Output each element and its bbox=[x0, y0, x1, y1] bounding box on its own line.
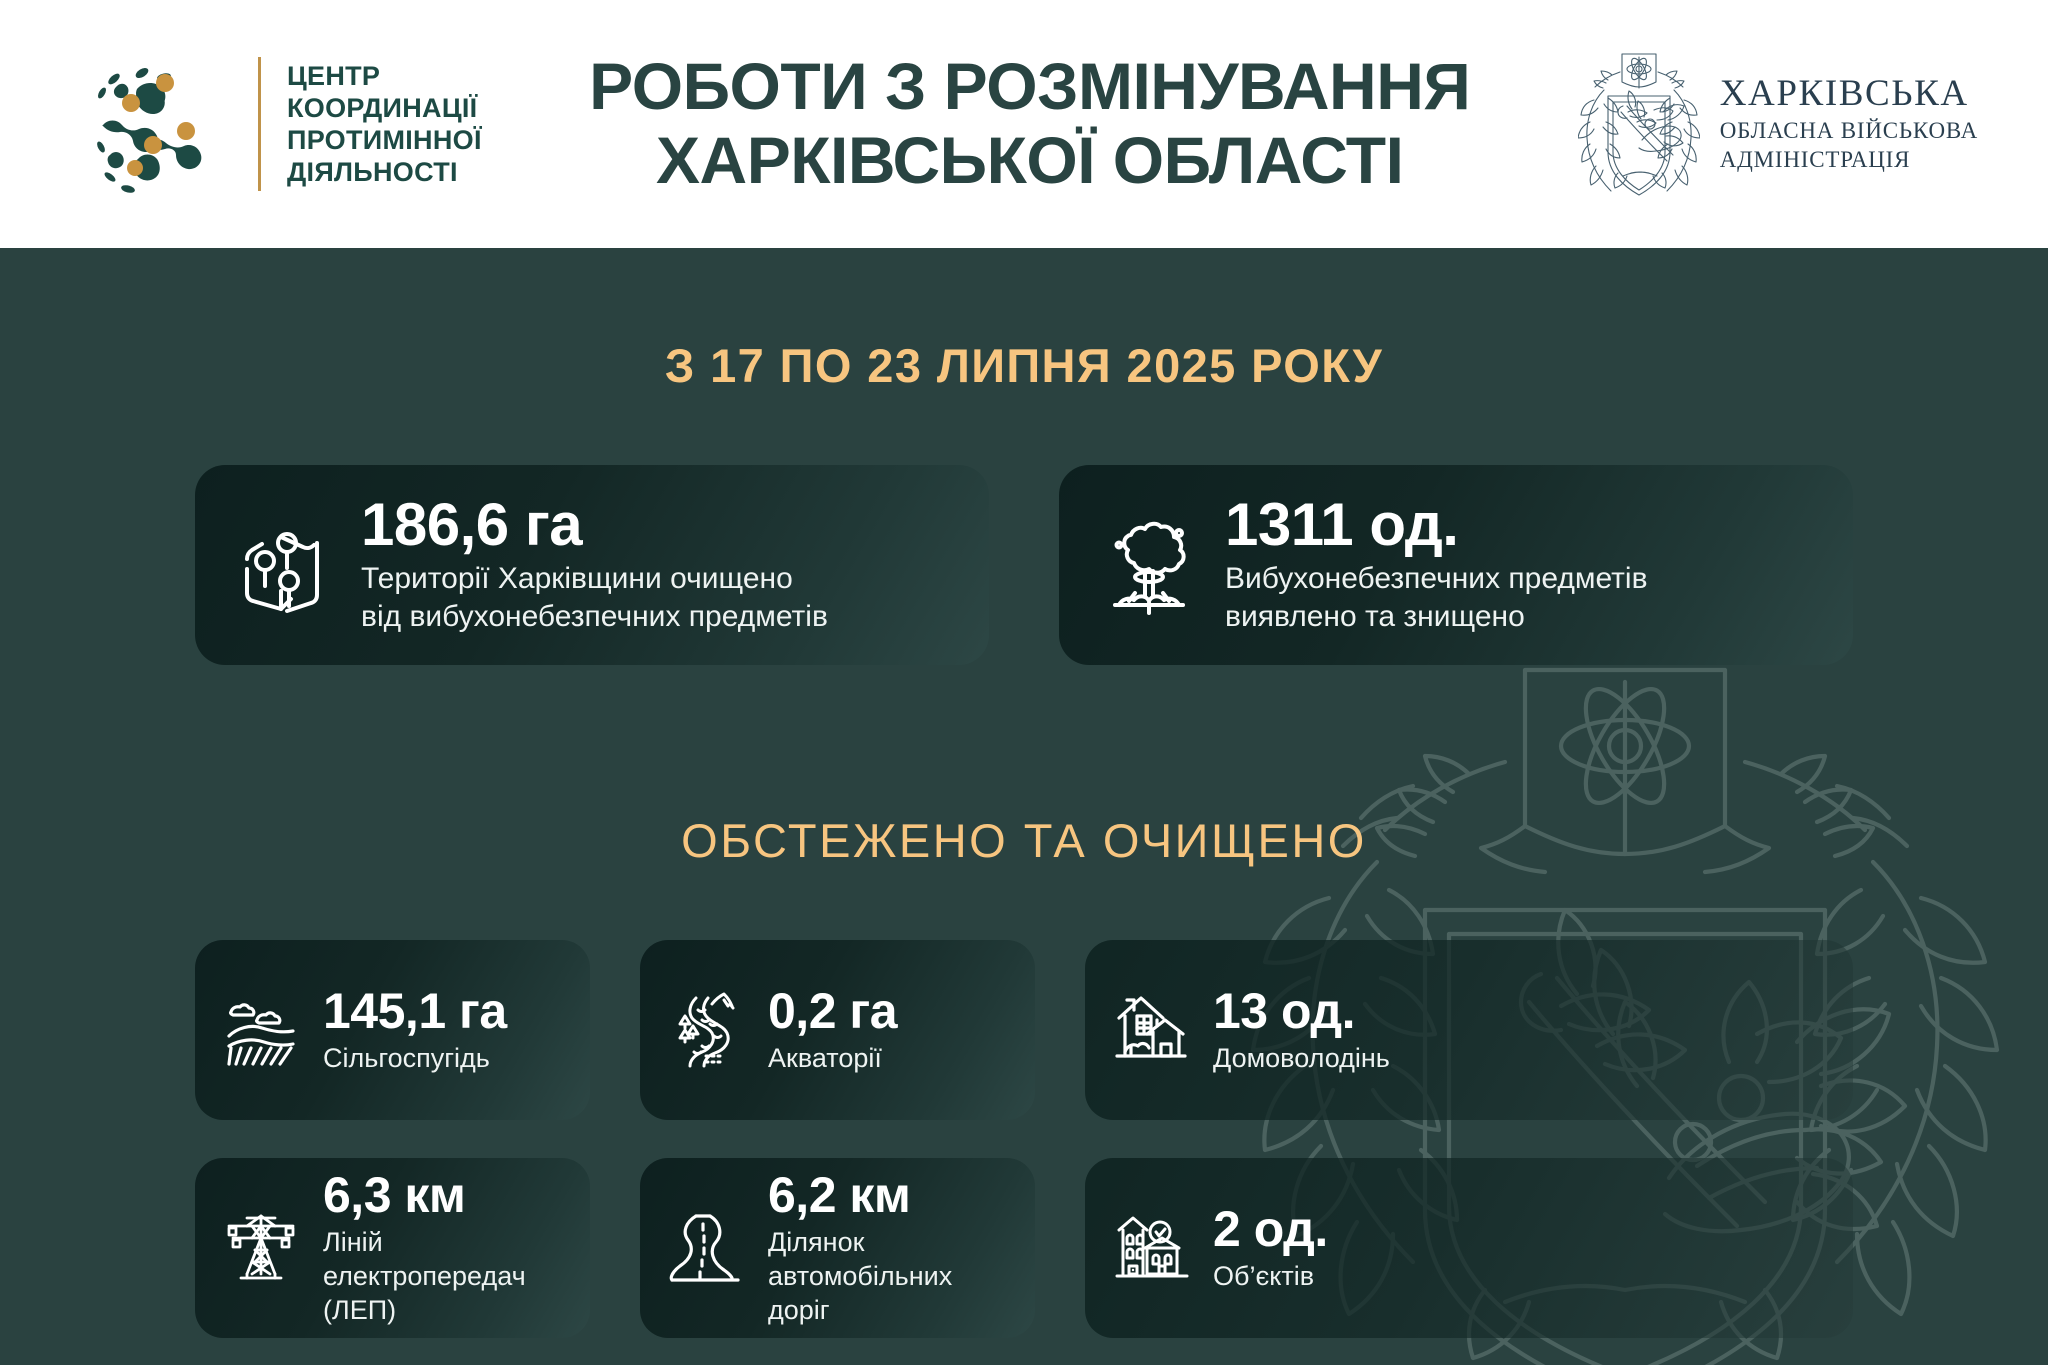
stat-value: 6,2 км bbox=[768, 1169, 1013, 1221]
oblast-administration-logo: ХАРКІВСЬКА ОБЛАСНА ВІЙСЬКОВА АДМІНІСТРАЦ… bbox=[1578, 48, 1978, 200]
stat-card-farmland: 145,1 га Сільгоспугідь bbox=[195, 940, 590, 1120]
map-with-pins-icon bbox=[237, 513, 333, 617]
emblem-line-2: ОБЛАСНА ВІЙСЬКОВА bbox=[1720, 116, 1978, 145]
stat-label-line-2: (ЛЕП) bbox=[323, 1293, 568, 1327]
stat-label-line-1: Сільгоспугідь bbox=[323, 1041, 507, 1075]
page-title-line-1: РОБОТИ З РОЗМІНУВАННЯ bbox=[506, 50, 1554, 124]
buildings-check-icon bbox=[1111, 1208, 1191, 1288]
power-line-tower-icon bbox=[221, 1208, 301, 1288]
page-title-line-2: ХАРКІВСЬКОЇ ОБЛАСТІ bbox=[506, 124, 1554, 198]
stat-value: 145,1 га bbox=[323, 985, 507, 1037]
summary-cards-row: 186,6 га Території Харківщини очищено ві… bbox=[0, 465, 2048, 665]
page-header: ЦЕНТР КООРДИНАЦІЇ ПРОТИМІННОЇ ДІЯЛЬНОСТІ… bbox=[0, 0, 2048, 248]
stat-card-power-lines: 6,3 км Ліній електропередач (ЛЕП) bbox=[195, 1158, 590, 1338]
stat-label-line-2: від вибухонебезпечних предметів bbox=[361, 598, 828, 636]
infographic-body: З 17 ПО 23 ЛИПНЯ 2025 РОКУ 186,6 га bbox=[0, 248, 2048, 1338]
stat-value: 13 од. bbox=[1213, 985, 1390, 1037]
stat-label-line-2: виявлено та знищено bbox=[1225, 598, 1648, 636]
logo-line-2: КООРДИНАЦІЇ bbox=[287, 92, 482, 124]
house-icon bbox=[1111, 990, 1191, 1070]
road-icon bbox=[666, 1208, 746, 1288]
river-water-icon bbox=[666, 990, 746, 1070]
farmland-field-icon bbox=[221, 990, 301, 1070]
stat-card-area-cleared: 186,6 га Території Харківщини очищено ві… bbox=[195, 465, 989, 665]
stat-label-line-2: доріг bbox=[768, 1293, 1013, 1327]
stat-label-line-1: Території Харківщини очищено bbox=[361, 560, 828, 598]
stat-label-line-1: Домоволодінь bbox=[1213, 1041, 1390, 1075]
stat-card-explosives-destroyed: 1311 од. Вибухонебезпечних предметів вия… bbox=[1059, 465, 1853, 665]
cmcd-logo: ЦЕНТР КООРДИНАЦІЇ ПРОТИМІННОЇ ДІЯЛЬНОСТІ bbox=[80, 49, 482, 199]
stat-value: 2 од. bbox=[1213, 1203, 1328, 1255]
stat-label-line-1: Вибухонебезпечних предметів bbox=[1225, 560, 1648, 598]
molecule-network-logo-icon bbox=[80, 49, 232, 199]
explosion-cloud-icon bbox=[1101, 513, 1197, 617]
stat-card-roads: 6,2 км Ділянок автомобільних доріг bbox=[640, 1158, 1035, 1338]
stat-value: 6,3 км bbox=[323, 1169, 568, 1221]
logo-line-4: ДІЯЛЬНОСТІ bbox=[287, 156, 482, 188]
logo-line-1: ЦЕНТР bbox=[287, 60, 482, 92]
stat-label-line-1: Акваторії bbox=[768, 1041, 897, 1075]
oblast-administration-wordmark: ХАРКІВСЬКА ОБЛАСНА ВІЙСЬКОВА АДМІНІСТРАЦ… bbox=[1720, 73, 1978, 175]
detail-cards-grid: 145,1 га Сільгоспугідь bbox=[0, 940, 2048, 1338]
stat-label-line-1: Ліній електропередач bbox=[323, 1225, 568, 1293]
logo-line-3: ПРОТИМІННОЇ bbox=[287, 124, 482, 156]
stat-label-line-1: Об’єктів bbox=[1213, 1259, 1328, 1293]
emblem-line-1: ХАРКІВСЬКА bbox=[1720, 73, 1978, 116]
infographic-page: ЦЕНТР КООРДИНАЦІЇ ПРОТИМІННОЇ ДІЯЛЬНОСТІ… bbox=[0, 0, 2048, 1365]
section-heading: ОБСТЕЖЕНО ТА ОЧИЩЕНО bbox=[0, 813, 2048, 868]
stat-value: 186,6 га bbox=[361, 494, 828, 555]
logo-divider bbox=[258, 57, 261, 191]
logo-wordmark: ЦЕНТР КООРДИНАЦІЇ ПРОТИМІННОЇ ДІЯЛЬНОСТІ bbox=[287, 60, 482, 189]
stat-card-objects: 2 од. Об’єктів bbox=[1085, 1158, 1853, 1338]
stat-card-water-area: 0,2 га Акваторії bbox=[640, 940, 1035, 1120]
kharkiv-oblast-coat-of-arms-icon bbox=[1578, 48, 1700, 200]
stat-value: 1311 од. bbox=[1225, 494, 1648, 555]
stat-label-line-1: Ділянок автомобільних bbox=[768, 1225, 1013, 1293]
stat-card-households: 13 од. Домоволодінь bbox=[1085, 940, 1853, 1120]
emblem-line-3: АДМІНІСТРАЦІЯ bbox=[1720, 145, 1978, 174]
page-title: РОБОТИ З РОЗМІНУВАННЯ ХАРКІВСЬКОЇ ОБЛАСТ… bbox=[482, 50, 1578, 198]
date-range-heading: З 17 ПО 23 ЛИПНЯ 2025 РОКУ bbox=[0, 248, 2048, 393]
stat-value: 0,2 га bbox=[768, 985, 897, 1037]
